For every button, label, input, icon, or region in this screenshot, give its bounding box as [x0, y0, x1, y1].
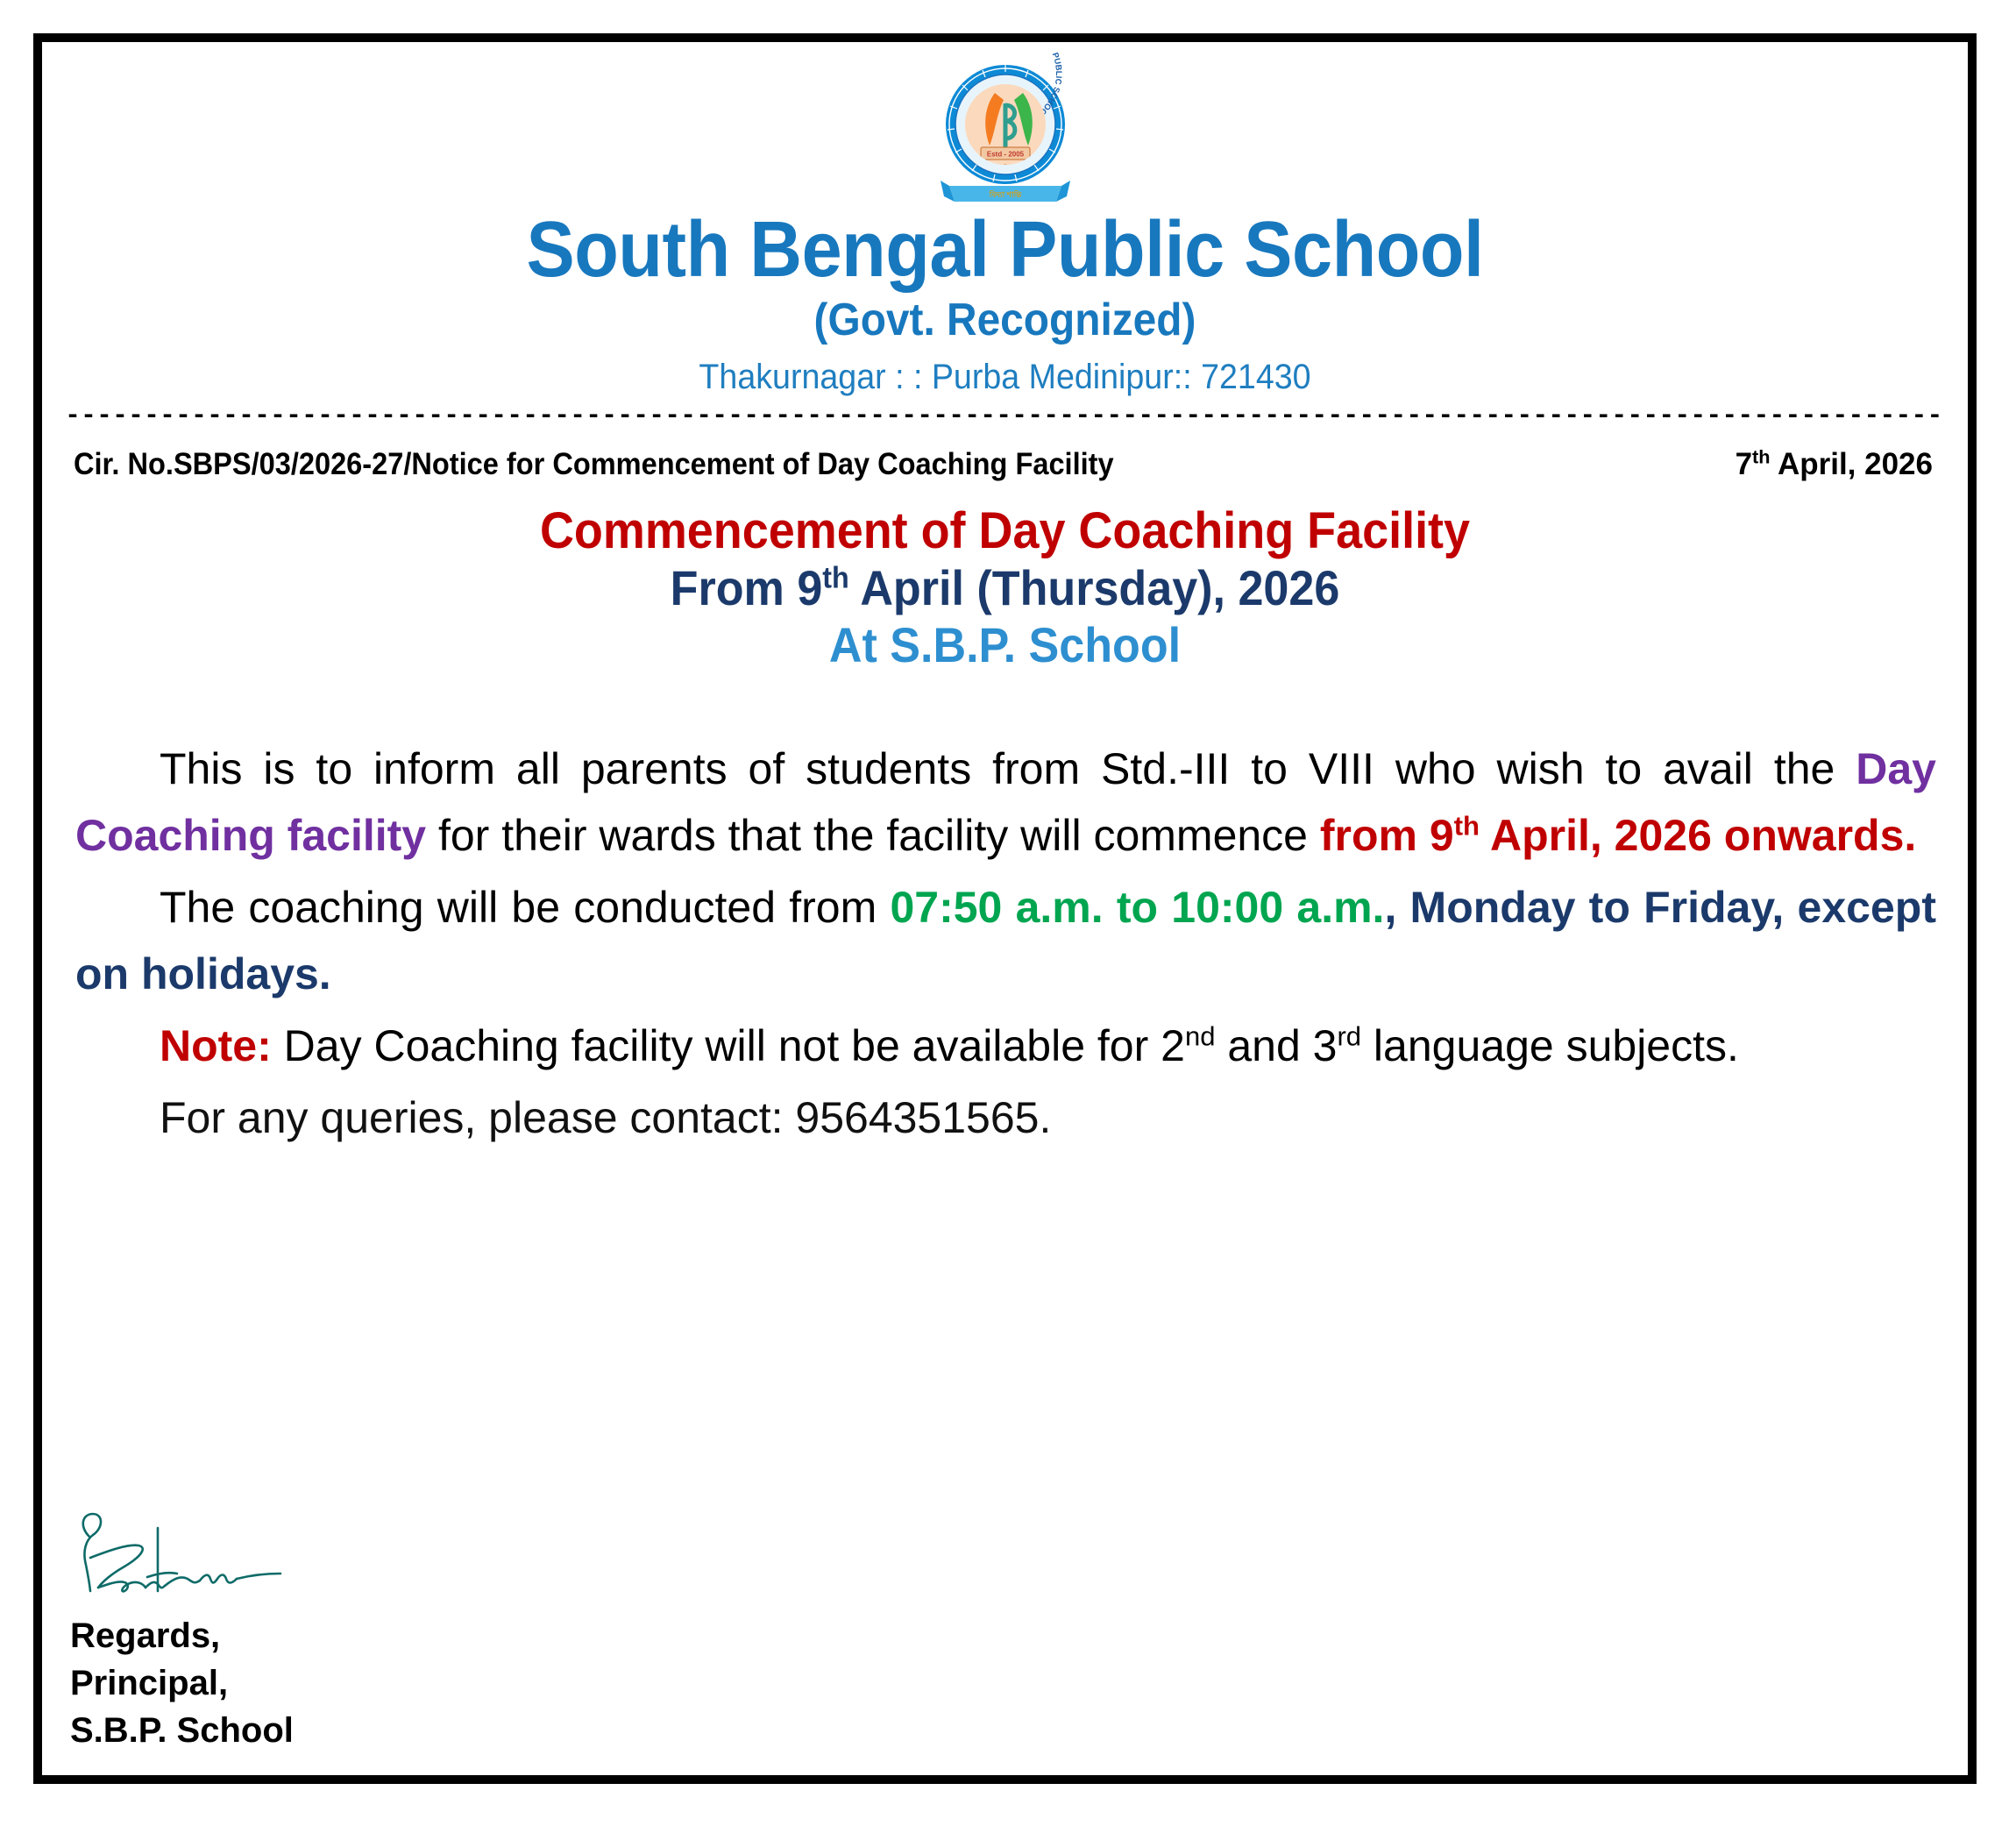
note-text-b: and 3: [1215, 1021, 1337, 1070]
para1-red-post: April, 2026 onwards.: [1480, 811, 1916, 860]
circular-date-ordinal: th: [1752, 445, 1770, 467]
circular-date: 7th April, 2026: [1736, 447, 1936, 482]
principal-signature-icon: [70, 1505, 359, 1610]
circular-date-number: 7: [1736, 447, 1752, 481]
notice-page: SOUTH BENGAL PUBLIC SCHOOL: [0, 0, 2016, 1826]
signature-area: Regards, Principal, S.B.P. School: [70, 1505, 684, 1754]
header-separator: ----------------------------------------…: [65, 412, 1945, 421]
para1-red-ordinal: th: [1454, 810, 1480, 841]
school-name: South Bengal Public School: [137, 210, 1873, 291]
notice-title-block: Commencement of Day Coaching Facility Fr…: [61, 501, 1949, 674]
para1-text-b: for their wards that the facility will c…: [426, 811, 1320, 860]
school-address: Thakurnagar : : Purba Medinipur:: 721430: [118, 356, 1892, 398]
logo-container: SOUTH BENGAL PUBLIC SCHOOL: [61, 42, 1949, 209]
recognition-line: (Govt. Recognized): [137, 295, 1873, 347]
note-text-c: language subjects.: [1361, 1021, 1739, 1070]
notice-content: SOUTH BENGAL PUBLIC SCHOOL: [42, 42, 1968, 1775]
note-label: Note:: [160, 1021, 272, 1070]
circular-reference: Cir. No.SBPS/03/2026-27/Notice for Comme…: [74, 447, 1114, 482]
sign-off-block: Regards, Principal, S.B.P. School: [70, 1612, 684, 1754]
body-note: Note: Day Coaching facility will not be …: [75, 1012, 1936, 1079]
notice-title-line-2: From 9th April (Thursday), 2026: [127, 560, 1882, 617]
sign-off-school: S.B.P. School: [70, 1707, 684, 1754]
note-ordinal-3rd: rd: [1337, 1020, 1361, 1051]
title-line2-pre: From 9: [671, 560, 823, 615]
sign-off-regards: Regards,: [70, 1612, 684, 1659]
notice-title-line-3: At S.B.P. School: [127, 617, 1882, 674]
school-crest-logo-icon: SOUTH BENGAL PUBLIC SCHOOL: [932, 53, 1079, 209]
para2-text-a: The coaching will be conducted from: [160, 883, 890, 932]
note-text-a: Day Coaching facility will not be availa…: [272, 1021, 1185, 1070]
contact-line: For any queries, please contact: 9564351…: [75, 1084, 1936, 1151]
notice-title-line-1: Commencement of Day Coaching Facility: [127, 501, 1882, 560]
body-paragraph-1: This is to inform all parents of student…: [75, 735, 1936, 869]
body-paragraph-2: The coaching will be conducted from 07:5…: [75, 874, 1936, 1007]
title-line2-post: April (Thursday), 2026: [849, 560, 1340, 615]
svg-text:বিদ্যা শান্তি: বিদ্যা শান্তি: [988, 189, 1022, 199]
note-ordinal-2nd: nd: [1185, 1020, 1215, 1051]
para1-red-pre: from 9: [1320, 811, 1454, 860]
para1-text-a: This is to inform all parents of student…: [160, 744, 1856, 793]
title-line2-ordinal: th: [822, 561, 848, 594]
svg-text:Estd - 2005: Estd - 2005: [986, 151, 1024, 159]
notice-body: This is to inform all parents of student…: [61, 735, 1949, 1151]
notice-border-frame: SOUTH BENGAL PUBLIC SCHOOL: [33, 33, 1977, 1784]
circular-meta-row: Cir. No.SBPS/03/2026-27/Notice for Comme…: [61, 447, 1949, 482]
sign-off-principal: Principal,: [70, 1659, 684, 1707]
circular-date-rest: April, 2026: [1771, 447, 1933, 481]
para2-timing: 07:50 a.m. to 10:00 a.m.: [890, 883, 1384, 932]
para1-start-date: from 9th April, 2026 onwards.: [1320, 811, 1916, 860]
